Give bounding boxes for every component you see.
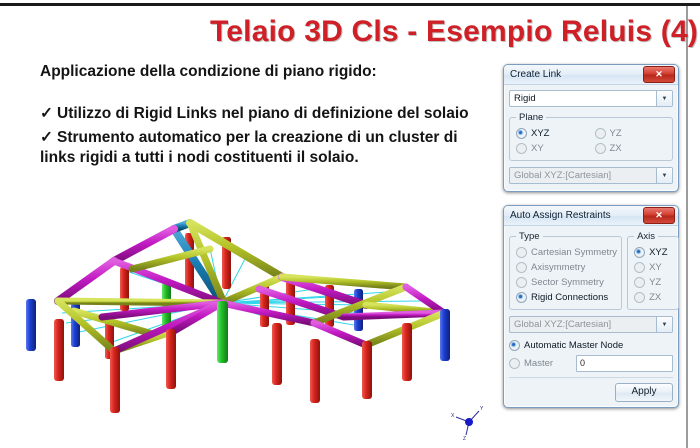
radio-label: XY	[649, 262, 662, 273]
radio-indicator	[516, 128, 527, 139]
close-icon[interactable]: ✕	[643, 207, 675, 224]
close-icon[interactable]: ✕	[643, 66, 675, 83]
radio-label: Master	[524, 358, 576, 369]
radio-type-sector-symmetry[interactable]: Sector Symmetry	[516, 275, 617, 290]
radio-indicator	[595, 128, 606, 139]
chevron-down-icon[interactable]: ▼	[656, 317, 672, 332]
model-viewport[interactable]	[14, 205, 492, 443]
link-type-value: Rigid	[514, 93, 536, 104]
radio-indicator	[516, 247, 527, 258]
chevron-down-icon[interactable]: ▼	[656, 91, 672, 106]
axis-triad-icon: X Y Z	[446, 398, 492, 442]
radio-type-rigid-connections[interactable]: Rigid Connections	[516, 290, 617, 305]
coordinate-system-value: Global XYZ:[Cartesian]	[514, 319, 611, 330]
radio-axis-xy[interactable]: XY	[634, 260, 674, 275]
auto-assign-body: Type Cartesian Symmetry Axisymmetry Sect…	[504, 226, 678, 407]
plane-group-label: Plane	[516, 112, 546, 123]
radio-label: ZX	[610, 143, 622, 154]
frame-model-svg	[14, 205, 492, 443]
radio-label: XYZ	[531, 128, 549, 139]
slide-canvas: Telaio 3D Cls - Esempio Reluis (4) Appli…	[0, 0, 700, 448]
radio-indicator	[634, 277, 645, 288]
roof-beams	[58, 223, 444, 351]
create-link-dialog[interactable]: Create Link ✕ Rigid ▼ Plane XYZ	[503, 64, 679, 192]
radio-plane-zx[interactable]: ZX	[595, 141, 669, 156]
radio-label: YZ	[610, 128, 622, 139]
svg-text:Z: Z	[463, 436, 466, 442]
link-type-combo[interactable]: Rigid ▼	[509, 90, 673, 107]
apply-button[interactable]: Apply	[615, 383, 673, 402]
radio-indicator	[634, 262, 645, 273]
dialog-button-row: Apply	[509, 383, 673, 402]
bullet-text: Utilizzo di Rigid Links nel piano di def…	[57, 105, 469, 122]
coordinate-system-combo[interactable]: Global XYZ:[Cartesian] ▼	[509, 167, 673, 184]
coordinate-system-value: Global XYZ:[Cartesian]	[514, 170, 611, 181]
radio-label: Automatic Master Node	[524, 340, 623, 351]
radio-indicator	[516, 262, 527, 273]
svg-text:X: X	[451, 413, 455, 419]
svg-text:Y: Y	[480, 406, 484, 412]
auto-assign-title-text: Auto Assign Restraints	[510, 210, 611, 221]
radio-plane-xyz[interactable]: XYZ	[516, 126, 590, 141]
radio-axis-yz[interactable]: YZ	[634, 275, 674, 290]
chevron-down-icon[interactable]: ▼	[656, 168, 672, 183]
body-text: Applicazione della condizione di piano r…	[40, 62, 490, 172]
radio-label: Rigid Connections	[531, 292, 608, 303]
divider	[509, 377, 673, 378]
page-title: Telaio 3D Cls - Esempio Reluis (4)	[210, 12, 688, 52]
radio-indicator	[509, 340, 520, 351]
radio-plane-xy[interactable]: XY	[516, 141, 590, 156]
right-rule	[686, 6, 688, 448]
radio-indicator	[634, 292, 645, 303]
auto-assign-restraints-dialog[interactable]: Auto Assign Restraints ✕ Type Cartesian …	[503, 205, 679, 408]
radio-label: Cartesian Symmetry	[531, 247, 617, 258]
create-link-title-text: Create Link	[510, 69, 561, 80]
bullet-item-2: ✓Strumento automatico per la creazione d…	[40, 128, 490, 168]
radio-indicator	[516, 143, 527, 154]
check-icon: ✓	[40, 129, 53, 146]
lead-paragraph: Applicazione della condizione di piano r…	[40, 62, 490, 82]
radio-axis-xyz[interactable]: XYZ	[634, 245, 674, 260]
create-link-titlebar: Create Link ✕	[504, 65, 678, 85]
auto-assign-titlebar: Auto Assign Restraints ✕	[504, 206, 678, 226]
radio-indicator	[634, 247, 645, 258]
radio-type-axisymmetry[interactable]: Axisymmetry	[516, 260, 617, 275]
master-node-input[interactable]: 0	[576, 355, 673, 372]
radio-indicator	[516, 292, 527, 303]
radio-label: Sector Symmetry	[531, 277, 604, 288]
type-group: Type Cartesian Symmetry Axisymmetry Sect…	[509, 231, 622, 310]
master-node-row[interactable]: Master 0	[509, 356, 673, 371]
radio-type-cartesian-symmetry[interactable]: Cartesian Symmetry	[516, 245, 617, 260]
radio-indicator	[595, 143, 606, 154]
axis-group: Axis XYZ XY YZ ZX	[627, 231, 679, 310]
check-icon: ✓	[40, 105, 53, 122]
coordinate-system-combo[interactable]: Global XYZ:[Cartesian] ▼	[509, 316, 673, 333]
radio-label: ZX	[649, 292, 661, 303]
bullet-text: Strumento automatico per la creazione di…	[40, 129, 458, 166]
radio-label: XY	[531, 143, 544, 154]
radio-label: XYZ	[649, 247, 667, 258]
radio-automatic-master-node[interactable]: Automatic Master Node	[509, 338, 673, 353]
create-link-body: Rigid ▼ Plane XYZ XY	[504, 85, 678, 191]
type-group-label: Type	[516, 231, 543, 242]
radio-indicator	[516, 277, 527, 288]
radio-axis-zx[interactable]: ZX	[634, 290, 674, 305]
radio-indicator	[509, 358, 520, 369]
bullet-item-1: ✓Utilizzo di Rigid Links nel piano di de…	[40, 104, 490, 124]
radio-label: YZ	[649, 277, 661, 288]
plane-group: Plane XYZ XY	[509, 112, 673, 161]
axis-group-label: Axis	[634, 231, 658, 242]
top-rule	[0, 3, 700, 6]
radio-plane-yz[interactable]: YZ	[595, 126, 669, 141]
radio-label: Axisymmetry	[531, 262, 585, 273]
